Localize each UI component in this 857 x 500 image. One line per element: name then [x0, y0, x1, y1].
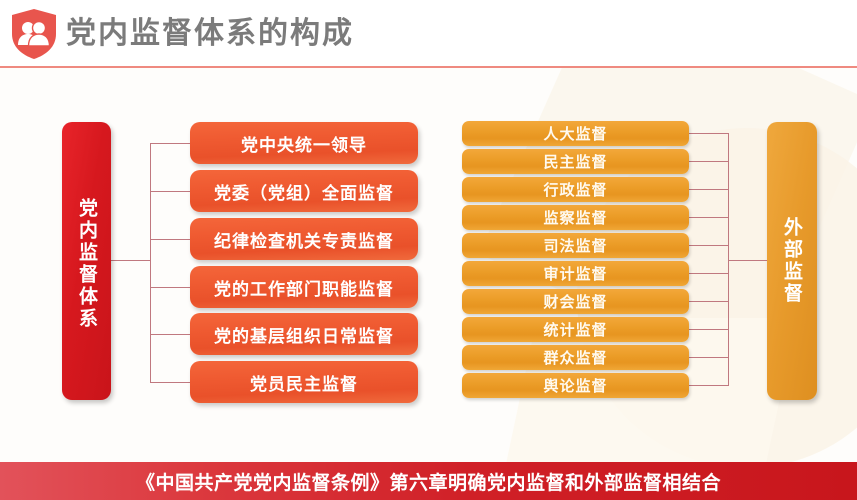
connector-right-branch [689, 133, 729, 134]
internal-item-3[interactable]: 党的工作部门职能监督 [190, 266, 418, 308]
connector-left-stub [111, 260, 151, 261]
connector-right-branch [689, 385, 729, 386]
connector-left-branch [150, 287, 191, 288]
connector-right-stub [728, 260, 767, 261]
connector-right-branch [689, 357, 729, 358]
external-item-2[interactable]: 行政监督 [462, 177, 689, 202]
internal-supervision-pillar[interactable]: 党内监督体系 [62, 122, 111, 400]
connector-right-branch [689, 217, 729, 218]
internal-item-2[interactable]: 纪律检查机关专责监督 [190, 218, 418, 260]
external-item-1[interactable]: 民主监督 [462, 149, 689, 174]
external-supervision-pillar[interactable]: 外部监督 [767, 122, 817, 400]
external-item-8[interactable]: 群众监督 [462, 345, 689, 370]
internal-item-1[interactable]: 党委（党组）全面监督 [190, 170, 418, 212]
external-item-0[interactable]: 人大监督 [462, 121, 689, 146]
connector-right-branch [689, 301, 729, 302]
external-item-7[interactable]: 统计监督 [462, 317, 689, 342]
diagram-stage: 党内监督体系 外部监督 党中央统一领导 党委（党组）全面监督 纪律检查机关专责监… [0, 68, 857, 462]
page-header: 党内监督体系的构成 [0, 0, 857, 68]
footer-banner-text: 《中国共产党党内监督条例》第六章明确党内监督和外部监督相结合 [136, 468, 721, 495]
internal-item-4[interactable]: 党的基层组织日常监督 [190, 313, 418, 355]
connector-right-branch [689, 245, 729, 246]
connector-left-branch [150, 143, 191, 144]
external-item-6[interactable]: 财会监督 [462, 289, 689, 314]
connector-left-trunk [150, 143, 151, 382]
external-item-5[interactable]: 审计监督 [462, 261, 689, 286]
external-item-3[interactable]: 监察监督 [462, 205, 689, 230]
internal-item-0[interactable]: 党中央统一领导 [190, 122, 418, 164]
connector-right-branch [689, 189, 729, 190]
connector-left-branch [150, 382, 191, 383]
external-item-4[interactable]: 司法监督 [462, 233, 689, 258]
connector-left-branch [150, 239, 191, 240]
shield-people-icon [10, 8, 58, 60]
connector-right-branch [689, 273, 729, 274]
connector-right-branch [689, 329, 729, 330]
page-title: 党内监督体系的构成 [66, 12, 354, 56]
connector-left-branch [150, 334, 191, 335]
connector-right-branch [689, 161, 729, 162]
internal-item-5[interactable]: 党员民主监督 [190, 361, 418, 403]
connector-left-branch [150, 191, 191, 192]
external-item-9[interactable]: 舆论监督 [462, 373, 689, 398]
footer-banner: 《中国共产党党内监督条例》第六章明确党内监督和外部监督相结合 [0, 462, 857, 500]
